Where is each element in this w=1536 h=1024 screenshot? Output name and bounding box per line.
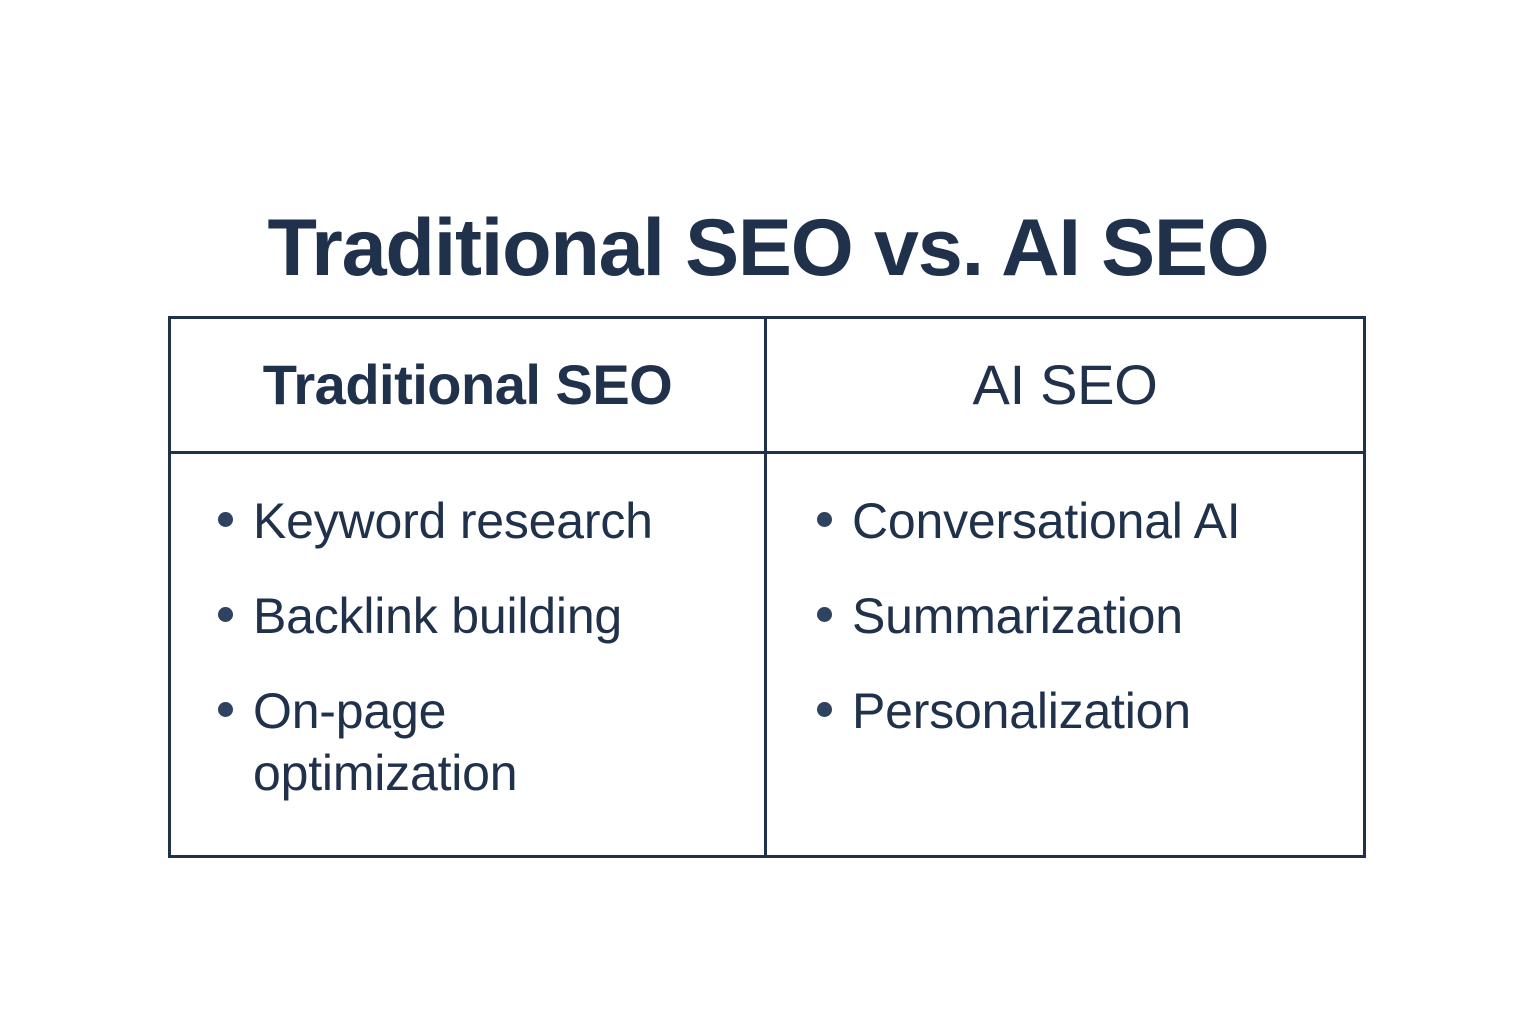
bullet-list-ai-seo: Conversational AI Summarization Personal…	[767, 490, 1363, 742]
table-header-cell-ai-seo: AI SEO	[767, 319, 1363, 451]
bullet-dot-icon	[218, 512, 233, 527]
list-item-label: Summarization	[852, 585, 1313, 647]
bullet-dot-icon	[817, 512, 832, 527]
list-item: On-page optimization	[218, 680, 704, 804]
list-item-label: Personalization	[852, 680, 1313, 742]
bullet-dot-icon	[218, 607, 233, 622]
list-item-label: Conversational AI	[852, 490, 1313, 552]
column-header-label-right: AI SEO	[973, 354, 1158, 416]
list-item-label: Keyword research	[253, 490, 703, 552]
slide-canvas: Traditional SEO vs. AI SEO Traditional S…	[0, 0, 1536, 1024]
bullet-dot-icon	[817, 702, 832, 717]
column-header-label-left: Traditional SEO	[263, 354, 672, 416]
list-item: Keyword research	[218, 490, 704, 552]
table-body-cell-ai-seo: Conversational AI Summarization Personal…	[767, 454, 1363, 855]
table-header-row: Traditional SEO AI SEO	[171, 319, 1363, 454]
list-item: Backlink building	[218, 585, 704, 647]
list-item: Conversational AI	[817, 490, 1313, 552]
bullet-list-traditional-seo: Keyword research Backlink building On-pa…	[171, 490, 764, 804]
list-item-label: On-page optimization	[253, 680, 703, 804]
table-header-cell-traditional-seo: Traditional SEO	[171, 319, 767, 451]
table-body-row: Keyword research Backlink building On-pa…	[171, 454, 1363, 855]
table-body-cell-traditional-seo: Keyword research Backlink building On-pa…	[171, 454, 767, 855]
comparison-table: Traditional SEO AI SEO Keyword research …	[168, 316, 1366, 858]
bullet-dot-icon	[218, 702, 233, 717]
list-item: Summarization	[817, 585, 1313, 647]
list-item: Personalization	[817, 680, 1313, 742]
list-item-label: Backlink building	[253, 585, 703, 647]
page-title: Traditional SEO vs. AI SEO	[0, 206, 1536, 291]
bullet-dot-icon	[817, 607, 832, 622]
